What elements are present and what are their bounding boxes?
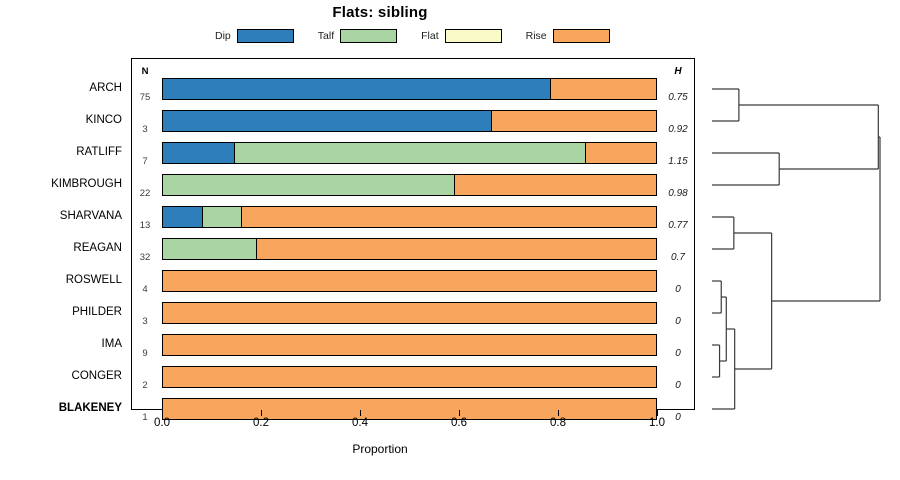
bar-row[interactable]: [162, 78, 657, 100]
bar-segment-rise[interactable]: [163, 303, 656, 323]
bar-segment-rise[interactable]: [256, 239, 656, 259]
bar-row[interactable]: [162, 238, 657, 260]
x-axis-tick: [261, 410, 262, 416]
bar-segment-rise[interactable]: [163, 271, 656, 291]
x-axis-tick-label: 0.4: [340, 417, 380, 429]
bar-segment-rise[interactable]: [491, 111, 656, 131]
bar-segment-rise[interactable]: [454, 175, 656, 195]
bar-segment-rise[interactable]: [550, 79, 656, 99]
bar-row[interactable]: [162, 110, 657, 132]
bar-row[interactable]: [162, 334, 657, 356]
bar-row[interactable]: [162, 174, 657, 196]
x-axis-tick: [558, 410, 559, 416]
bar-segment-rise[interactable]: [163, 335, 656, 355]
bar-segment-rise[interactable]: [585, 143, 656, 163]
bar-segment-talf[interactable]: [234, 143, 585, 163]
x-axis-tick: [657, 410, 658, 416]
x-axis-tick-label: 0.6: [439, 417, 479, 429]
x-axis-tick-label: 1.0: [637, 417, 677, 429]
x-axis-tick-label: 0.0: [142, 417, 182, 429]
bar-segment-dip[interactable]: [163, 207, 202, 227]
bar-segment-talf[interactable]: [163, 175, 454, 195]
bar-segment-talf[interactable]: [163, 239, 256, 259]
x-axis-title: Proportion: [0, 442, 760, 456]
bar-segment-dip[interactable]: [163, 143, 234, 163]
bar-segment-rise[interactable]: [241, 207, 656, 227]
bar-row[interactable]: [162, 142, 657, 164]
bar-row[interactable]: [162, 206, 657, 228]
x-axis-tick: [360, 410, 361, 416]
x-axis-tick: [162, 410, 163, 416]
x-axis-tick-label: 0.2: [241, 417, 281, 429]
bar-segment-dip[interactable]: [163, 111, 491, 131]
dendrogram-svg: [700, 58, 895, 410]
chart-root: Flats: sibling DipTalfFlatRise ARCHKINCO…: [0, 0, 900, 480]
x-axis-tick: [459, 410, 460, 416]
dendrogram: [700, 58, 900, 410]
x-axis-tick-label: 0.8: [538, 417, 578, 429]
bar-segment-talf[interactable]: [202, 207, 241, 227]
bar-segment-dip[interactable]: [163, 79, 550, 99]
bar-row[interactable]: [162, 302, 657, 324]
bar-segment-rise[interactable]: [163, 367, 656, 387]
bar-row[interactable]: [162, 366, 657, 388]
bar-row[interactable]: [162, 270, 657, 292]
